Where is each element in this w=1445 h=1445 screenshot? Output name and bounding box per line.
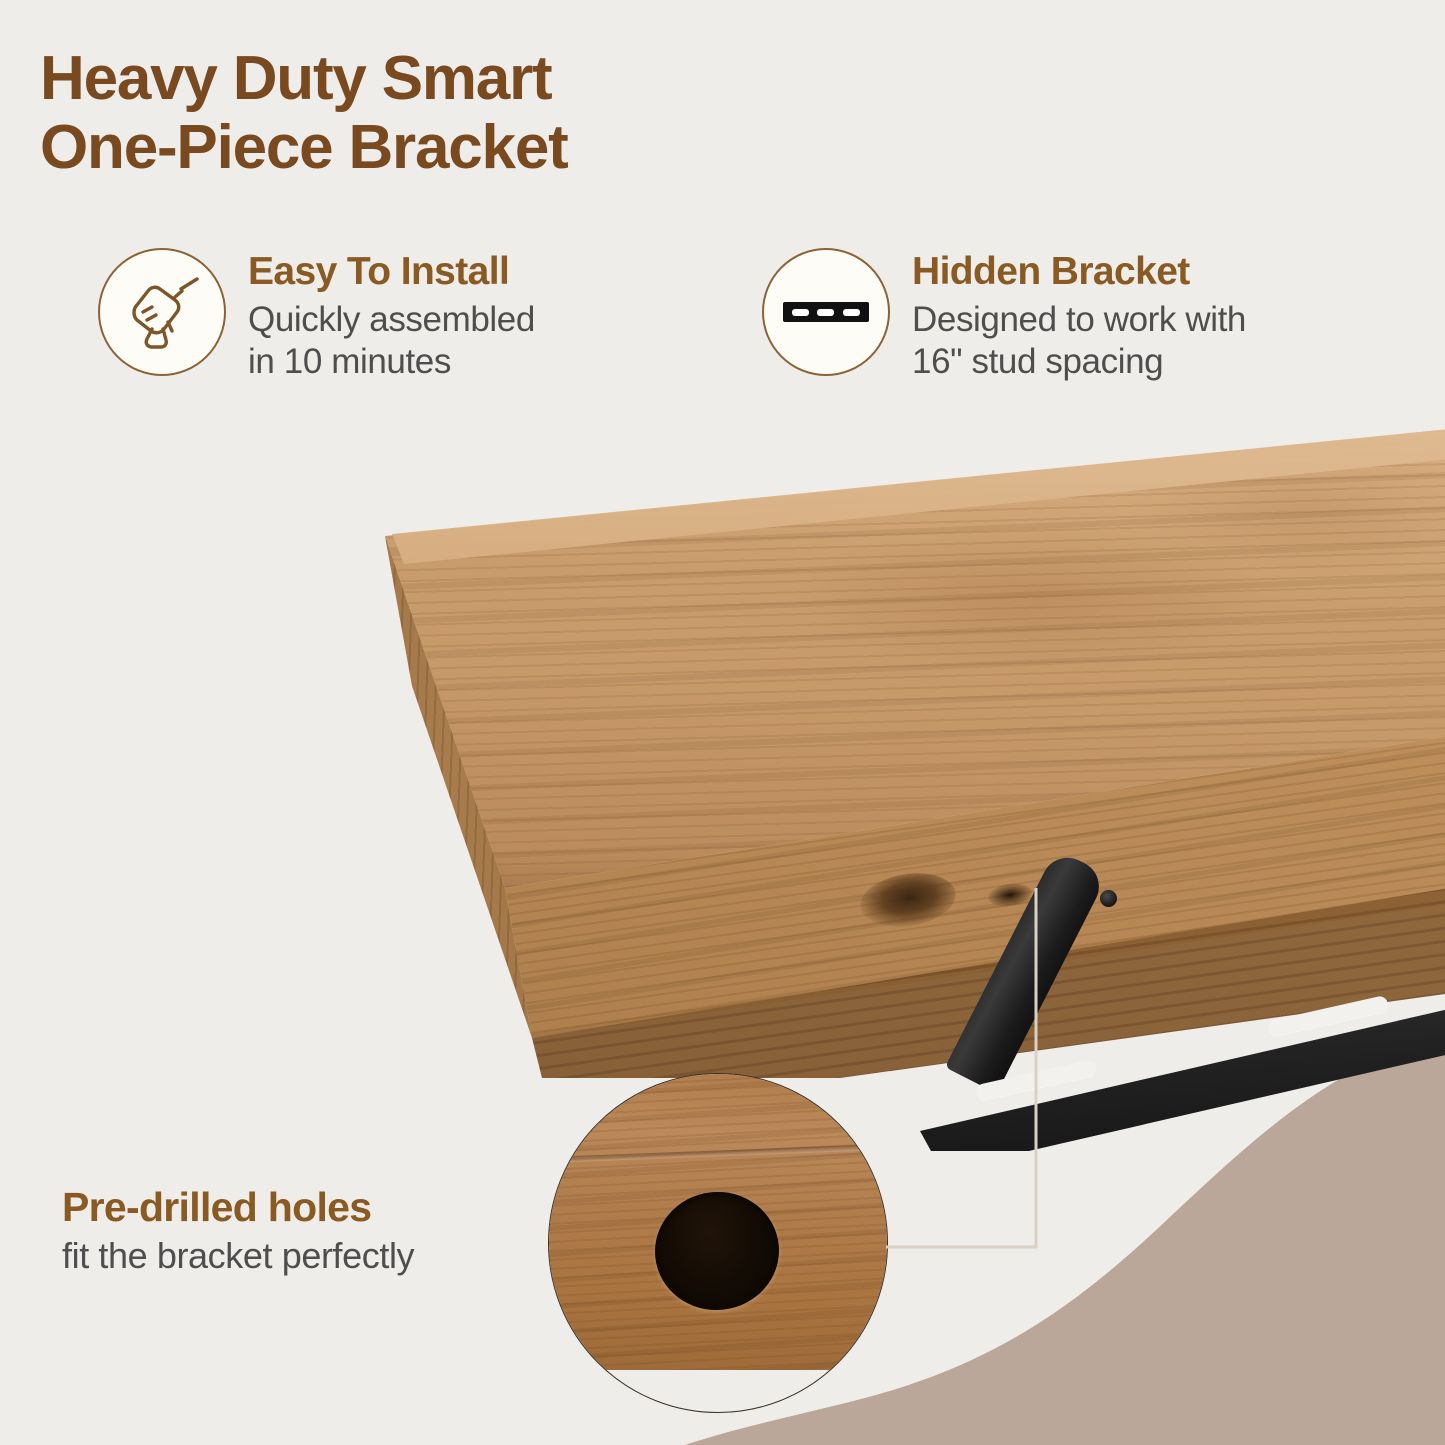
feature-easy-to-install: Easy To Install Quickly assembled in 10 … — [98, 248, 718, 383]
page-title: Heavy Duty Smart One-Piece Bracket — [40, 44, 960, 183]
callout-caption: Pre-drilled holes fit the bracket perfec… — [62, 1186, 542, 1276]
drill-icon-badge — [98, 248, 226, 376]
feature-title: Easy To Install — [248, 252, 535, 293]
bracket-slot — [817, 309, 834, 316]
bracket-slot — [792, 309, 809, 316]
wooden-shelf — [300, 418, 1445, 1058]
feature-title: Hidden Bracket — [912, 252, 1246, 293]
rod-screw-hole — [1100, 890, 1117, 907]
callout-title: Pre-drilled holes — [62, 1186, 542, 1229]
feature-subtitle: Quickly assembled in 10 minutes — [248, 299, 535, 383]
pre-drilled-hole-magnifier — [548, 1073, 888, 1413]
bracket-slot — [843, 309, 860, 316]
callout-subtitle: fit the bracket perfectly — [62, 1235, 542, 1276]
feature-hidden-bracket: Hidden Bracket Designed to work with 16"… — [762, 248, 1402, 383]
drill-icon — [119, 269, 205, 355]
bracket-bar-icon — [783, 302, 869, 322]
product-infographic: Heavy Duty Smart One-Piece Bracket Easy … — [0, 0, 1445, 1445]
bracket-bar-icon-badge — [762, 248, 890, 376]
feature-subtitle: Designed to work with 16" stud spacing — [912, 299, 1246, 383]
